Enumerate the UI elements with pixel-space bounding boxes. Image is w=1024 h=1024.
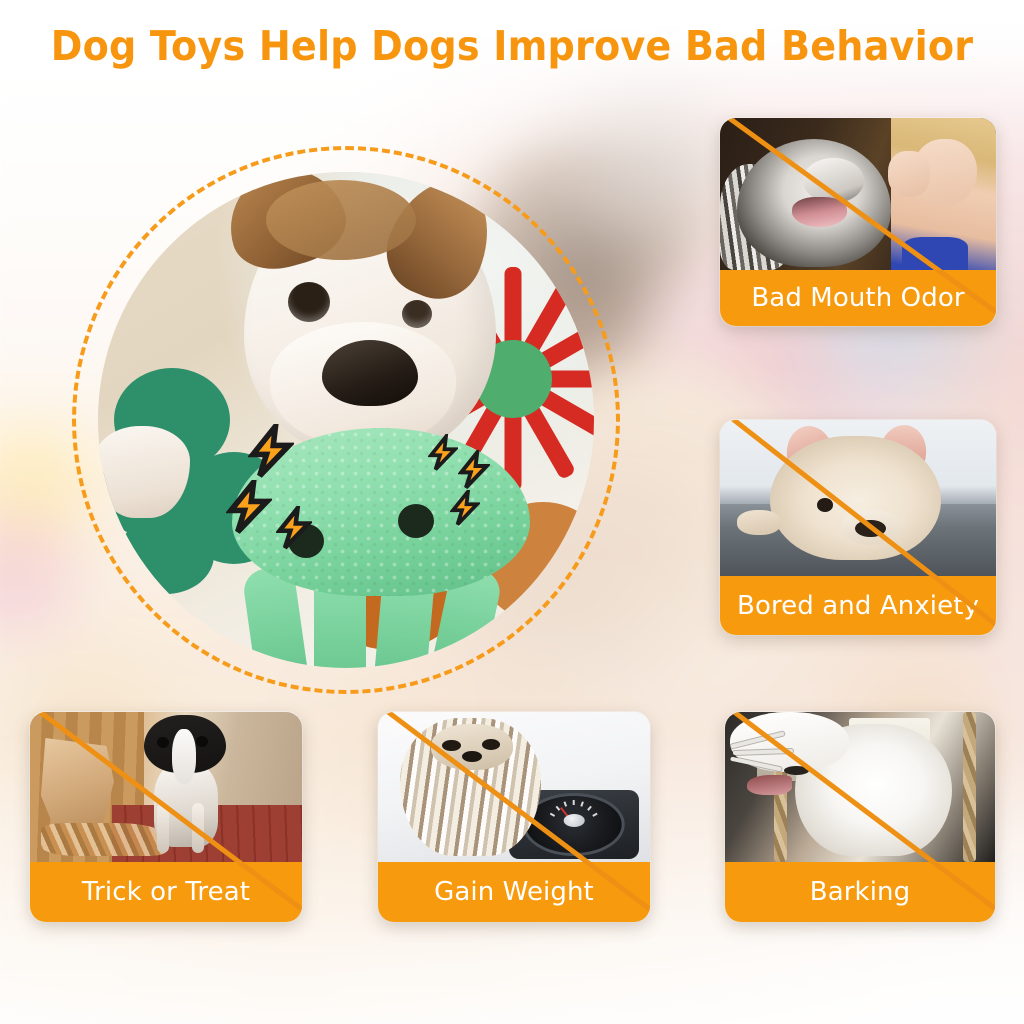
card-photo-barking xyxy=(725,712,995,862)
card-bad-mouth-odor[interactable]: Bad Mouth Odor xyxy=(720,118,996,326)
card-gain-weight[interactable]: Gain Weight xyxy=(378,712,650,922)
card-label-bad-mouth-odor: Bad Mouth Odor xyxy=(720,270,996,326)
card-bored-and-anxiety[interactable]: Bored and Anxiety xyxy=(720,420,996,635)
infographic-canvas: Dog Toys Help Dogs Improve Bad Behavior xyxy=(0,0,1024,1024)
hero-product-photo xyxy=(72,146,620,694)
card-label-trick-or-treat: Trick or Treat xyxy=(30,862,302,922)
page-title: Dog Toys Help Dogs Improve Bad Behavior xyxy=(36,22,988,70)
card-barking[interactable]: Barking xyxy=(725,712,995,922)
card-photo-bored-and-anxiety xyxy=(720,420,996,576)
card-photo-trick-or-treat xyxy=(30,712,302,862)
card-label-gain-weight: Gain Weight xyxy=(378,862,650,922)
card-photo-gain-weight xyxy=(378,712,650,862)
hero-dashed-ring xyxy=(72,146,620,694)
card-photo-bad-mouth-odor xyxy=(720,118,996,270)
bark-sound-lines xyxy=(730,736,800,775)
card-trick-or-treat[interactable]: Trick or Treat xyxy=(30,712,302,922)
card-label-barking: Barking xyxy=(725,862,995,922)
card-label-bored-and-anxiety: Bored and Anxiety xyxy=(720,576,996,635)
